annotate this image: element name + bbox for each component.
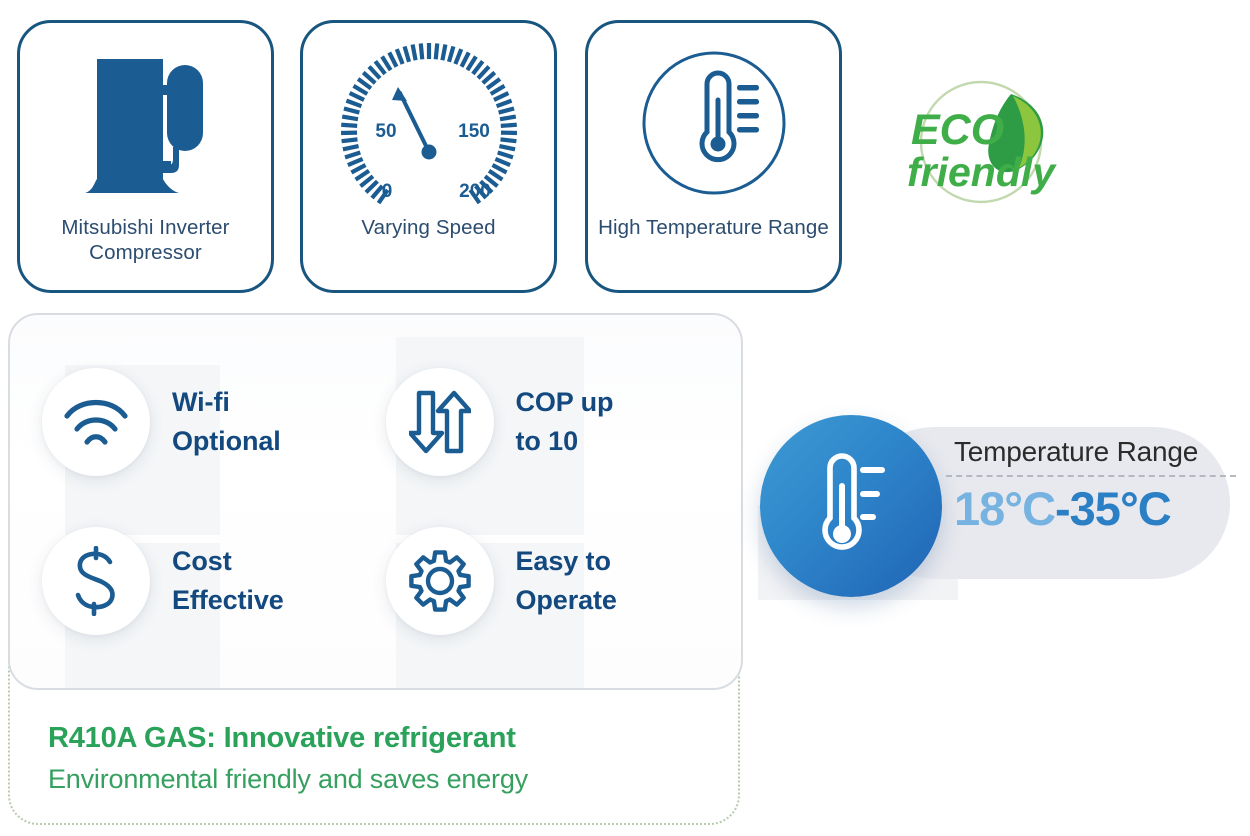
temperature-value: 18°C-35°C (954, 479, 1230, 539)
feature-label-cop: COP up to 10 (516, 383, 614, 461)
gauge-needle-head (392, 87, 407, 101)
refrigerant-title: R410A GAS: Innovative refrigerant (48, 718, 728, 759)
temperature-value-separator: - (1055, 482, 1070, 535)
thermometer-icon (812, 450, 890, 562)
feature-easy-to-operate[interactable]: Easy to Operate (380, 502, 724, 661)
eco-text-line1: ECO (911, 106, 1004, 154)
feature-label-easy: Easy to Operate (516, 542, 617, 620)
thermometer-circle (760, 415, 942, 597)
gauge-tick-150: 150 (458, 121, 490, 142)
thermometer-circle-icon (629, 38, 799, 208)
up-down-arrows-icon (409, 389, 471, 455)
card-mitsubishi-inverter-compressor[interactable]: Mitsubishi Inverter Compressor (17, 20, 274, 293)
gauge-tick-0: 0 (381, 181, 392, 202)
speed-gauge-icon: 50 150 0 200 (329, 31, 529, 216)
card-label-high-temperature: High Temperature Range (588, 215, 839, 240)
refrigerant-text-block: R410A GAS: Innovative refrigerant Enviro… (48, 718, 728, 800)
feature-cost-effective[interactable]: Cost Effective (36, 502, 380, 661)
dollar-icon-bubble (42, 527, 150, 635)
gauge-tick-200: 200 (459, 181, 491, 202)
gear-icon-bubble (386, 527, 494, 635)
gauge-tick-50: 50 (375, 121, 396, 142)
wifi-icon-bubble (42, 368, 150, 476)
feature-wifi-optional[interactable]: Wi-fi Optional (36, 343, 380, 502)
feature-label-wifi: Wi-fi Optional (172, 383, 281, 461)
gear-icon (407, 548, 473, 614)
card-label-compressor: Mitsubishi Inverter Compressor (20, 215, 271, 265)
thermometer-circle-icon-area (588, 23, 839, 223)
feature-cop-up-to-10[interactable]: COP up to 10 (380, 343, 724, 502)
card-high-temperature-range[interactable]: High Temperature Range (585, 20, 842, 293)
eco-friendly-badge: ECO friendly (893, 78, 1083, 208)
temperature-range-widget: Temperature Range 18°C-35°C (758, 415, 1230, 591)
feature-label-cost: Cost Effective (172, 542, 284, 620)
card-varying-speed[interactable]: 50 150 0 200 Varying Speed (300, 20, 557, 293)
eco-friendly-icon: ECO friendly (893, 78, 1083, 208)
temperature-text-block: Temperature Range 18°C-35°C (954, 431, 1230, 539)
compressor-icon (71, 41, 221, 206)
card-label-varying-speed: Varying Speed (303, 215, 554, 240)
temperature-value-high: 35°C (1070, 482, 1171, 535)
gauge-hub (421, 144, 436, 159)
up-down-arrows-icon-bubble (386, 368, 494, 476)
speed-gauge-icon-area: 50 150 0 200 (303, 23, 554, 223)
temperature-value-low: 18°C (954, 482, 1055, 535)
wifi-icon (62, 396, 130, 448)
features-grid: Wi-fi Optional COP up to 10 Cost Effecti… (10, 315, 741, 688)
eco-text-line2: friendly (907, 149, 1057, 195)
gauge-needle (400, 93, 429, 152)
compressor-icon-area (20, 23, 271, 223)
dollar-icon (72, 546, 120, 616)
refrigerant-subtitle: Environmental friendly and saves energy (48, 759, 728, 800)
temperature-divider (946, 475, 1236, 477)
features-panel: Wi-fi Optional COP up to 10 Cost Effecti… (8, 313, 743, 690)
temperature-range-label: Temperature Range (954, 431, 1230, 473)
